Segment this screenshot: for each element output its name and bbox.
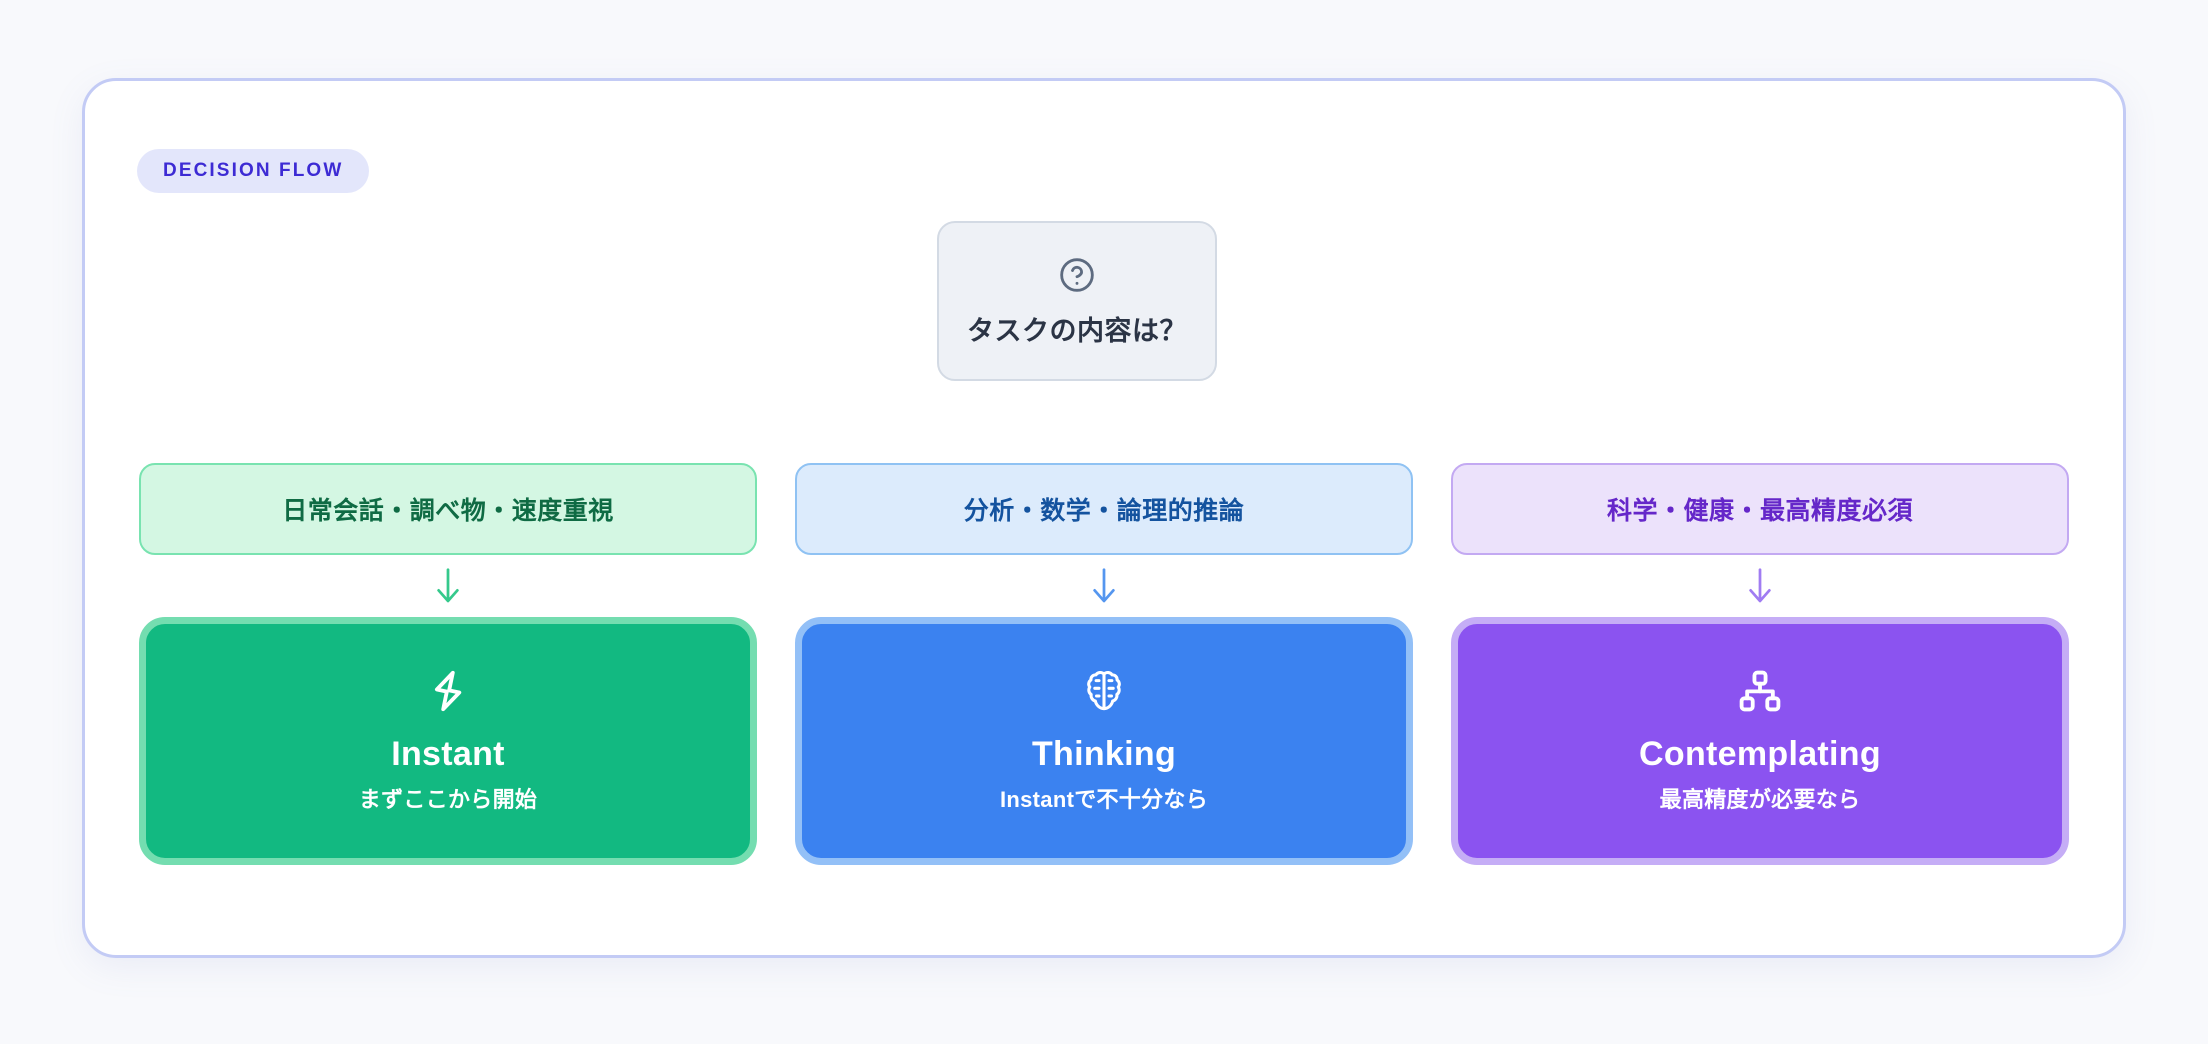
- result-card-instant[interactable]: Instant まずここから開始: [139, 617, 757, 865]
- result-card-contemplating-title: Contemplating: [1639, 736, 1881, 773]
- flow-panel: DECISION FLOW タスクの内容は？ 日常会話・調べ物・速度重視: [82, 78, 2126, 958]
- result-card-thinking-title: Thinking: [1032, 736, 1176, 773]
- lightning-bolt-icon: [425, 668, 471, 714]
- arrow-down-thinking: [1089, 555, 1119, 617]
- branch-column-contemplating: 科学・健康・最高精度必須: [1451, 463, 2069, 865]
- condition-pill-instant[interactable]: 日常会話・調べ物・速度重視: [139, 463, 757, 555]
- hierarchy-network-icon: [1737, 668, 1783, 714]
- arrow-down-icon: [1089, 566, 1119, 606]
- branch-column-thinking: 分析・数学・論理的推論: [795, 463, 1413, 865]
- root-decision-label: タスクの内容は？: [967, 309, 1187, 348]
- result-card-instant-title: Instant: [391, 736, 505, 773]
- section-badge: DECISION FLOW: [137, 149, 369, 193]
- condition-pill-thinking[interactable]: 分析・数学・論理的推論: [795, 463, 1413, 555]
- result-card-contemplating[interactable]: Contemplating 最高精度が必要なら: [1451, 617, 2069, 865]
- result-card-instant-subtitle: まずここから開始: [359, 782, 537, 814]
- branch-columns: 日常会話・調べ物・速度重視: [139, 463, 2069, 865]
- branch-column-instant: 日常会話・調べ物・速度重視: [139, 463, 757, 865]
- condition-pill-contemplating-label: 科学・健康・最高精度必須: [1607, 491, 1913, 527]
- result-card-thinking[interactable]: Thinking Instantで不十分なら: [795, 617, 1413, 865]
- arrow-down-instant: [433, 555, 463, 617]
- brain-icon: [1081, 668, 1127, 714]
- arrow-down-icon: [433, 566, 463, 606]
- root-decision-node[interactable]: タスクの内容は？: [937, 221, 1217, 381]
- result-card-contemplating-subtitle: 最高精度が必要なら: [1660, 782, 1861, 814]
- result-card-thinking-subtitle: Instantで不十分なら: [1000, 782, 1208, 814]
- condition-pill-contemplating[interactable]: 科学・健康・最高精度必須: [1451, 463, 2069, 555]
- condition-pill-instant-label: 日常会話・調べ物・速度重視: [282, 491, 614, 527]
- question-circle-icon: [1057, 255, 1097, 295]
- arrow-down-contemplating: [1745, 555, 1775, 617]
- condition-pill-thinking-label: 分析・数学・論理的推論: [964, 491, 1245, 527]
- arrow-down-icon: [1745, 566, 1775, 606]
- decision-flow-diagram: DECISION FLOW タスクの内容は？ 日常会話・調べ物・速度重視: [0, 0, 2208, 1044]
- section-badge-label: DECISION FLOW: [163, 160, 343, 182]
